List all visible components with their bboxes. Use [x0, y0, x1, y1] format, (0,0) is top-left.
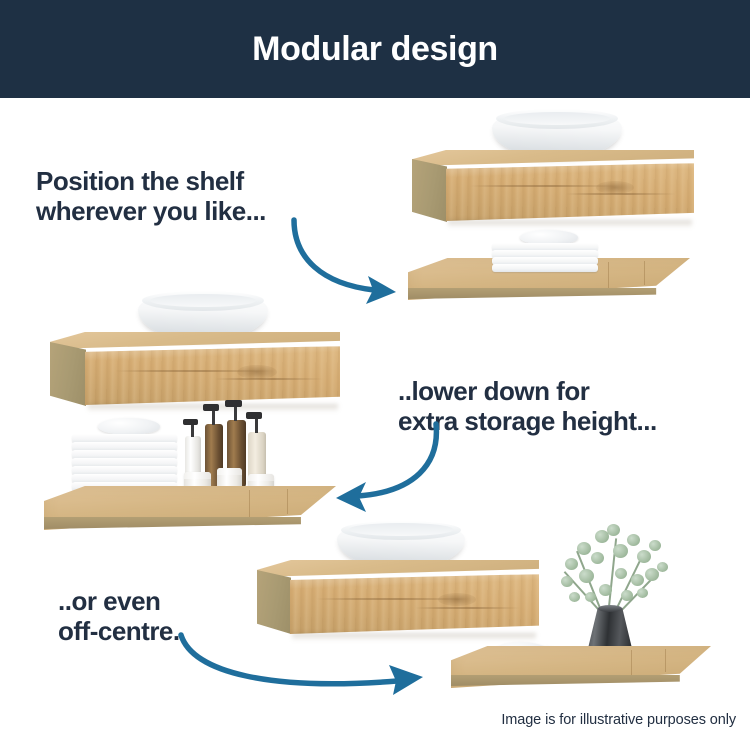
page-title: Modular design	[252, 30, 498, 69]
eucalyptus-leaf	[637, 588, 648, 598]
product-scene-shelf-low	[42, 290, 357, 530]
basin-inner-surface	[504, 112, 611, 125]
eucalyptus-leaf	[607, 524, 620, 536]
folded-towel-stack	[492, 232, 598, 270]
pump-neck	[212, 410, 215, 425]
wood-grain-knot	[438, 593, 476, 606]
eucalyptus-leaf	[579, 569, 594, 583]
cabinet-drop-shadow	[448, 220, 692, 228]
eucalyptus-leaf	[631, 574, 644, 586]
basin-inner-surface	[150, 294, 257, 307]
arrow-to-scene-2	[320, 420, 450, 510]
jar-lid	[184, 472, 211, 479]
cabinet-side-panel	[412, 159, 447, 222]
vanity-cabinet	[412, 150, 694, 224]
cabinet-drawer-front	[85, 346, 340, 405]
pump-neck	[255, 418, 258, 433]
eucalyptus-leaf	[613, 544, 628, 558]
callout-text-off-centre: ..or even off-centre.	[58, 586, 180, 646]
wood-grain-knot	[596, 181, 634, 194]
arrow-to-scene-1	[288, 214, 428, 314]
shelf-seam	[608, 262, 609, 288]
wood-grain-knot	[237, 365, 277, 379]
eucalyptus-leaf	[637, 550, 651, 563]
wood-grain-streak	[215, 378, 323, 380]
vase-lip	[598, 605, 622, 612]
cabinet-drawer-front	[446, 163, 694, 221]
wood-grain-streak	[415, 607, 520, 609]
cabinet-top-surface	[412, 150, 694, 166]
shelf-seam	[665, 649, 666, 672]
jar-lid	[217, 468, 242, 475]
pump-neck	[234, 406, 237, 421]
shelf-front-edge	[408, 288, 690, 299]
header-bar: Modular design	[0, 0, 750, 98]
eucalyptus-leaf	[569, 592, 580, 602]
pump-neck	[191, 424, 194, 437]
basin-inner-surface	[349, 523, 454, 535]
rolled-towel	[98, 418, 160, 435]
cabinet-top-surface	[50, 332, 340, 349]
shelf-seam	[287, 489, 288, 514]
eucalyptus-leaf	[561, 576, 573, 587]
eucalyptus-leaf	[645, 568, 659, 581]
eucalyptus-leaf	[615, 568, 627, 579]
cabinet-top-surface	[257, 560, 539, 577]
cabinet-side-panel	[50, 342, 86, 406]
eucalyptus-leaf	[591, 552, 604, 564]
shelf-seam	[644, 261, 645, 285]
folded-towel	[492, 264, 598, 272]
modular-shelf-offset	[451, 646, 711, 688]
shelf-seam	[249, 490, 250, 517]
callout-text-position-shelf: Position the shelf wherever you like...	[36, 166, 266, 226]
eucalyptus-leaf	[621, 590, 633, 601]
eucalyptus-leaf	[585, 592, 596, 602]
shelf-seam	[631, 650, 632, 675]
pump-head	[246, 412, 262, 419]
jar-lid	[248, 474, 274, 481]
pump-head	[225, 400, 242, 407]
shelf-front-edge	[451, 675, 711, 686]
infographic-page: Modular design	[0, 0, 750, 750]
eucalyptus-leaf	[599, 584, 612, 596]
eucalyptus-leaf	[657, 562, 668, 572]
eucalyptus-leaf	[627, 534, 640, 546]
arrow-to-scene-3	[175, 625, 445, 705]
pump-head	[203, 404, 219, 411]
disclaimer-text: Image is for illustrative purposes only	[501, 712, 736, 728]
pump-head	[183, 419, 198, 425]
eucalyptus-leaf	[577, 542, 591, 555]
eucalyptus-leaf	[649, 540, 661, 551]
eucalyptus-leaf	[565, 558, 578, 570]
product-scene-shelf-high	[400, 108, 700, 303]
vanity-cabinet	[50, 332, 340, 408]
